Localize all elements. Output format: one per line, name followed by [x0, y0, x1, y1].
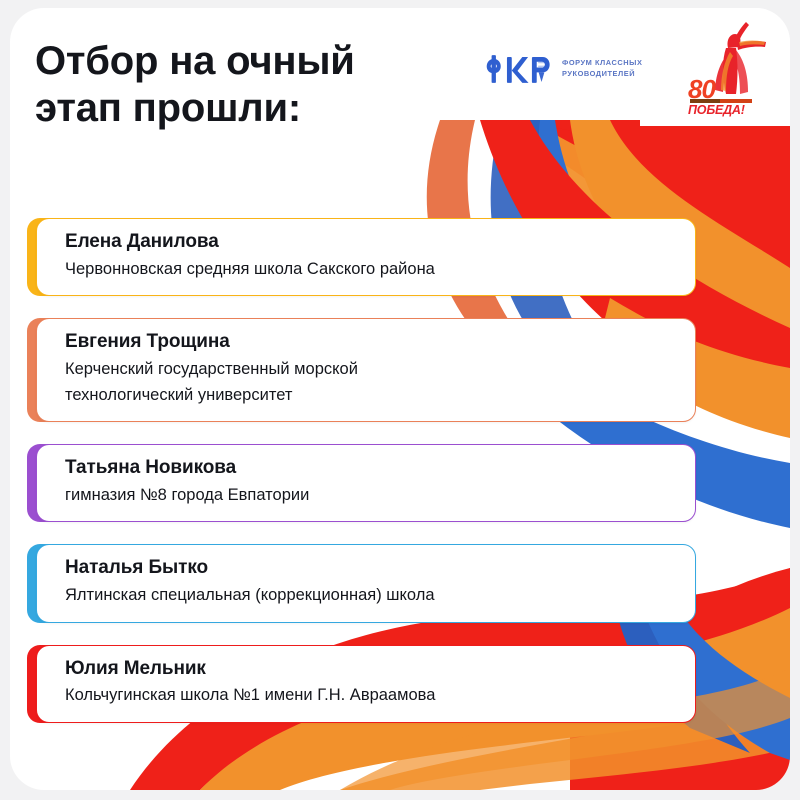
poster-canvas: Отбор на очный этап прошли:: [10, 8, 790, 790]
participant-card: Наталья БыткоЯлтинская специальная (корр…: [36, 544, 696, 622]
fkr-tagline: ФОРУМ КЛАССНЫХ РУКОВОДИТЕЛЕЙ: [562, 58, 642, 79]
poster-root: Отбор на очный этап прошли:: [0, 0, 800, 800]
anniversary-emblem: 80 ПОБЕДА!: [682, 20, 778, 120]
participant-card: Елена ДаниловаЧервонновская средняя школ…: [36, 218, 696, 296]
header: Отбор на очный этап прошли:: [10, 8, 790, 138]
fkr-brand-logo: ФОРУМ КЛАССНЫХ РУКОВОДИТЕЛЕЙ: [482, 52, 642, 86]
anniversary-word: ПОБЕДА!: [688, 104, 745, 117]
participant-name: Юлия Мельник: [65, 657, 677, 682]
participant-card: Евгения ТрощинаКерченский государственны…: [36, 318, 696, 422]
participant-organization: Ялтинская специальная (коррекционная) шк…: [65, 583, 677, 609]
participant-name: Елена Данилова: [65, 230, 677, 255]
participant-name: Евгения Трощина: [65, 330, 677, 355]
participants-list: Елена ДаниловаЧервонновская средняя школ…: [36, 218, 696, 745]
page-title: Отбор на очный этап прошли:: [35, 38, 465, 132]
participant-organization: гимназия №8 города Евпатории: [65, 483, 677, 509]
participant-card: Татьяна Новиковагимназия №8 города Евпат…: [36, 444, 696, 522]
participant-card: Юлия МельникКольчугинская школа №1 имени…: [36, 645, 696, 723]
participant-name: Татьяна Новикова: [65, 456, 677, 481]
participant-name: Наталья Бытко: [65, 556, 677, 581]
participant-organization: Керченский государственный морской техно…: [65, 357, 677, 408]
participant-organization: Кольчугинская школа №1 имени Г.Н. Авраам…: [65, 683, 677, 709]
participant-organization: Червонновская средняя школа Сакского рай…: [65, 257, 677, 283]
fkr-logo-icon: [482, 52, 554, 86]
